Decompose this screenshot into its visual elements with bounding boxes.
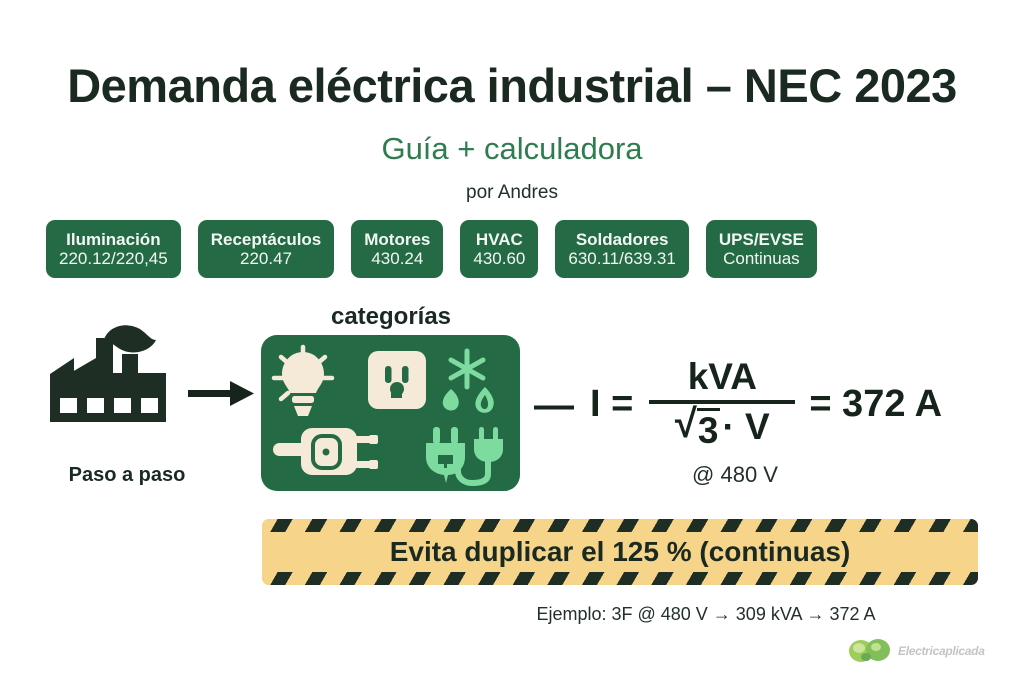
formula-dash: — [534,385,574,425]
welder-plug-icon [273,428,378,475]
page-subtitle: Guía + calculadora [0,131,1024,167]
formula-fraction: kVA √ 3 · V [649,358,795,450]
chip-label: Receptáculos [211,230,322,249]
chip-motores[interactable]: Motores 430.24 [351,220,443,278]
chip-label: UPS/EVSE [719,230,804,249]
chip-label: Soldadores [576,230,669,249]
watermark: Electricaplicada [848,634,1000,668]
chip-reference: 630.11/639.31 [568,249,675,268]
category-chip-row: Iluminación 220.12/220,45 Receptáculos 2… [46,220,978,278]
example-caption: Ejemplo: 3F @ 480 V → 309 kVA → 372 A [434,604,978,625]
formula-denominator: √ 3 · V [667,405,778,450]
fraction-bar [649,400,795,404]
formula-lhs: I = [590,385,633,423]
formula-numerator: kVA [678,358,767,397]
sqrt-symbol: √ [675,405,697,444]
category-icon-card [261,335,520,491]
watermark-text: Electricaplicada [898,644,985,658]
formula-result: = 372 A [809,385,942,423]
factory-icon [46,318,206,434]
byline: por Andres [0,182,1024,204]
chip-iluminacion[interactable]: Iluminación 220.12/220,45 [46,220,181,278]
infographic-canvas: Demanda eléctrica industrial – NEC 2023 … [0,0,1024,683]
lightbulb-icon [274,347,332,416]
chip-hvac[interactable]: HVAC 430.60 [460,220,538,278]
snowflake-flame-icon [443,351,494,413]
voltage-note: @ 480 V [632,462,838,488]
outlet-icon [368,351,426,409]
chip-reference: 220.12/220,45 [59,249,168,268]
watermark-logo-icon [848,636,894,666]
sqrt-group: √ 3 [675,405,721,450]
sqrt-radicand: 3 [697,408,721,450]
page-title: Demanda eléctrica industrial – NEC 2023 [0,58,1024,113]
categories-label: categorías [262,303,520,331]
warning-banner-text: Evita duplicar el 125 % (continuas) [262,519,978,585]
warning-banner: Evita duplicar el 125 % (continuas) [262,519,978,585]
chip-label: Motores [364,230,430,249]
chip-reference: 430.60 [473,249,525,268]
chip-receptaculos[interactable]: Receptáculos 220.47 [198,220,335,278]
chip-soldadores[interactable]: Soldadores 630.11/639.31 [555,220,688,278]
arrow-right-icon [186,372,258,416]
chip-ups-evse[interactable]: UPS/EVSE Continuas [706,220,817,278]
chip-label: Iluminación [66,230,160,249]
chip-reference: 220.47 [240,249,292,268]
chip-reference: Continuas [723,249,800,268]
denominator-rest: · V [722,407,769,448]
chip-label: HVAC [476,230,523,249]
ev-charger-icon [426,427,503,483]
factory-caption: Paso a paso [32,464,222,487]
chip-reference: 430.24 [371,249,423,268]
category-icon-set [261,335,520,491]
current-formula: — I = kVA √ 3 · V = 372 A [534,344,1004,464]
